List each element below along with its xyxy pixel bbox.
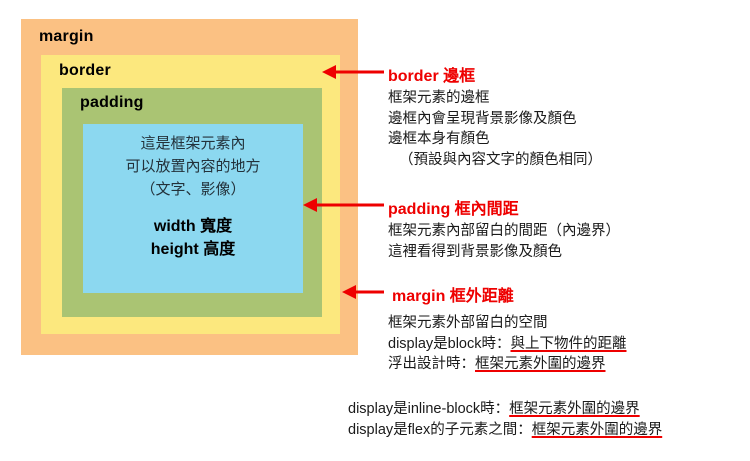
- padding-layer-label: padding: [80, 94, 144, 112]
- extra-annotation-line-1: display是inline-block時：框架元素外圍的邊界: [348, 399, 662, 420]
- extra-annotation-line-2: display是flex的子元素之間：框架元素外圍的邊界: [348, 420, 662, 441]
- margin-annotation-line-2-prefix: display是block時：: [388, 336, 511, 352]
- extra-annotation-line-2-prefix: display是flex的子元素之間：: [348, 422, 532, 438]
- margin-annotation-line-3-underlined: 框架元素外圍的邊界: [475, 356, 606, 372]
- margin-annotation-line-1: 框架元素外部留白的空間: [388, 313, 627, 334]
- content-width-label: width 寬度: [154, 215, 232, 238]
- padding-annotation-line-1: 框架元素內部留白的間距（內邊界）: [388, 221, 620, 242]
- content-height-label: height 高度: [151, 238, 235, 261]
- margin-annotation-line-2-underlined: 與上下物件的距離: [511, 336, 627, 352]
- margin-annotation-line-2: display是block時：與上下物件的距離: [388, 334, 627, 355]
- padding-annotation-line-2: 這裡看得到背景影像及顏色: [388, 242, 620, 263]
- extra-annotation-line-1-underlined: 框架元素外圍的邊界: [509, 401, 640, 417]
- border-annotation-line-1: 框架元素的邊框: [388, 88, 602, 109]
- border-annotation-body: 框架元素的邊框 邊框內會呈現背景影像及顏色 邊框本身有顏色 （預設與內容文字的顏…: [388, 88, 602, 170]
- margin-annotation-line-3-prefix: 浮出設計時：: [388, 356, 475, 372]
- border-annotation-line-4: （預設與內容文字的顏色相同）: [388, 150, 602, 171]
- content-layer: 這是框架元素內 可以放置內容的地方 （文字、影像） width 寬度 heigh…: [83, 124, 303, 293]
- padding-annotation-title: padding 框內間距: [388, 195, 519, 219]
- border-annotation-line-3: 邊框本身有顏色: [388, 129, 602, 150]
- box-model-diagram: margin border padding 這是框架元素內 可以放置內容的地方 …: [21, 19, 358, 355]
- extra-annotation-body: display是inline-block時：框架元素外圍的邊界 display是…: [348, 399, 662, 440]
- border-annotation-title: border 邊框: [388, 62, 475, 86]
- padding-annotation-body: 框架元素內部留白的間距（內邊界） 這裡看得到背景影像及顏色: [388, 221, 620, 262]
- border-layer: border padding 這是框架元素內 可以放置內容的地方 （文字、影像）…: [41, 55, 340, 334]
- extra-annotation-line-2-underlined: 框架元素外圍的邊界: [532, 422, 663, 438]
- margin-annotation-body: 框架元素外部留白的空間 display是block時：與上下物件的距離 浮出設計…: [388, 313, 627, 375]
- content-text-line-1: 這是框架元素內: [140, 132, 245, 155]
- content-text-line-3: （文字、影像）: [140, 178, 245, 201]
- margin-annotation-line-3: 浮出設計時：框架元素外圍的邊界: [388, 354, 627, 375]
- border-layer-label: border: [59, 62, 111, 80]
- margin-layer-label: margin: [39, 28, 94, 46]
- margin-annotation-title: margin 框外距離: [392, 282, 514, 306]
- border-annotation-line-2: 邊框內會呈現背景影像及顏色: [388, 109, 602, 130]
- content-text-line-2: 可以放置內容的地方: [125, 155, 260, 178]
- extra-annotation-line-1-prefix: display是inline-block時：: [348, 401, 509, 417]
- padding-layer: padding 這是框架元素內 可以放置內容的地方 （文字、影像） width …: [62, 88, 322, 317]
